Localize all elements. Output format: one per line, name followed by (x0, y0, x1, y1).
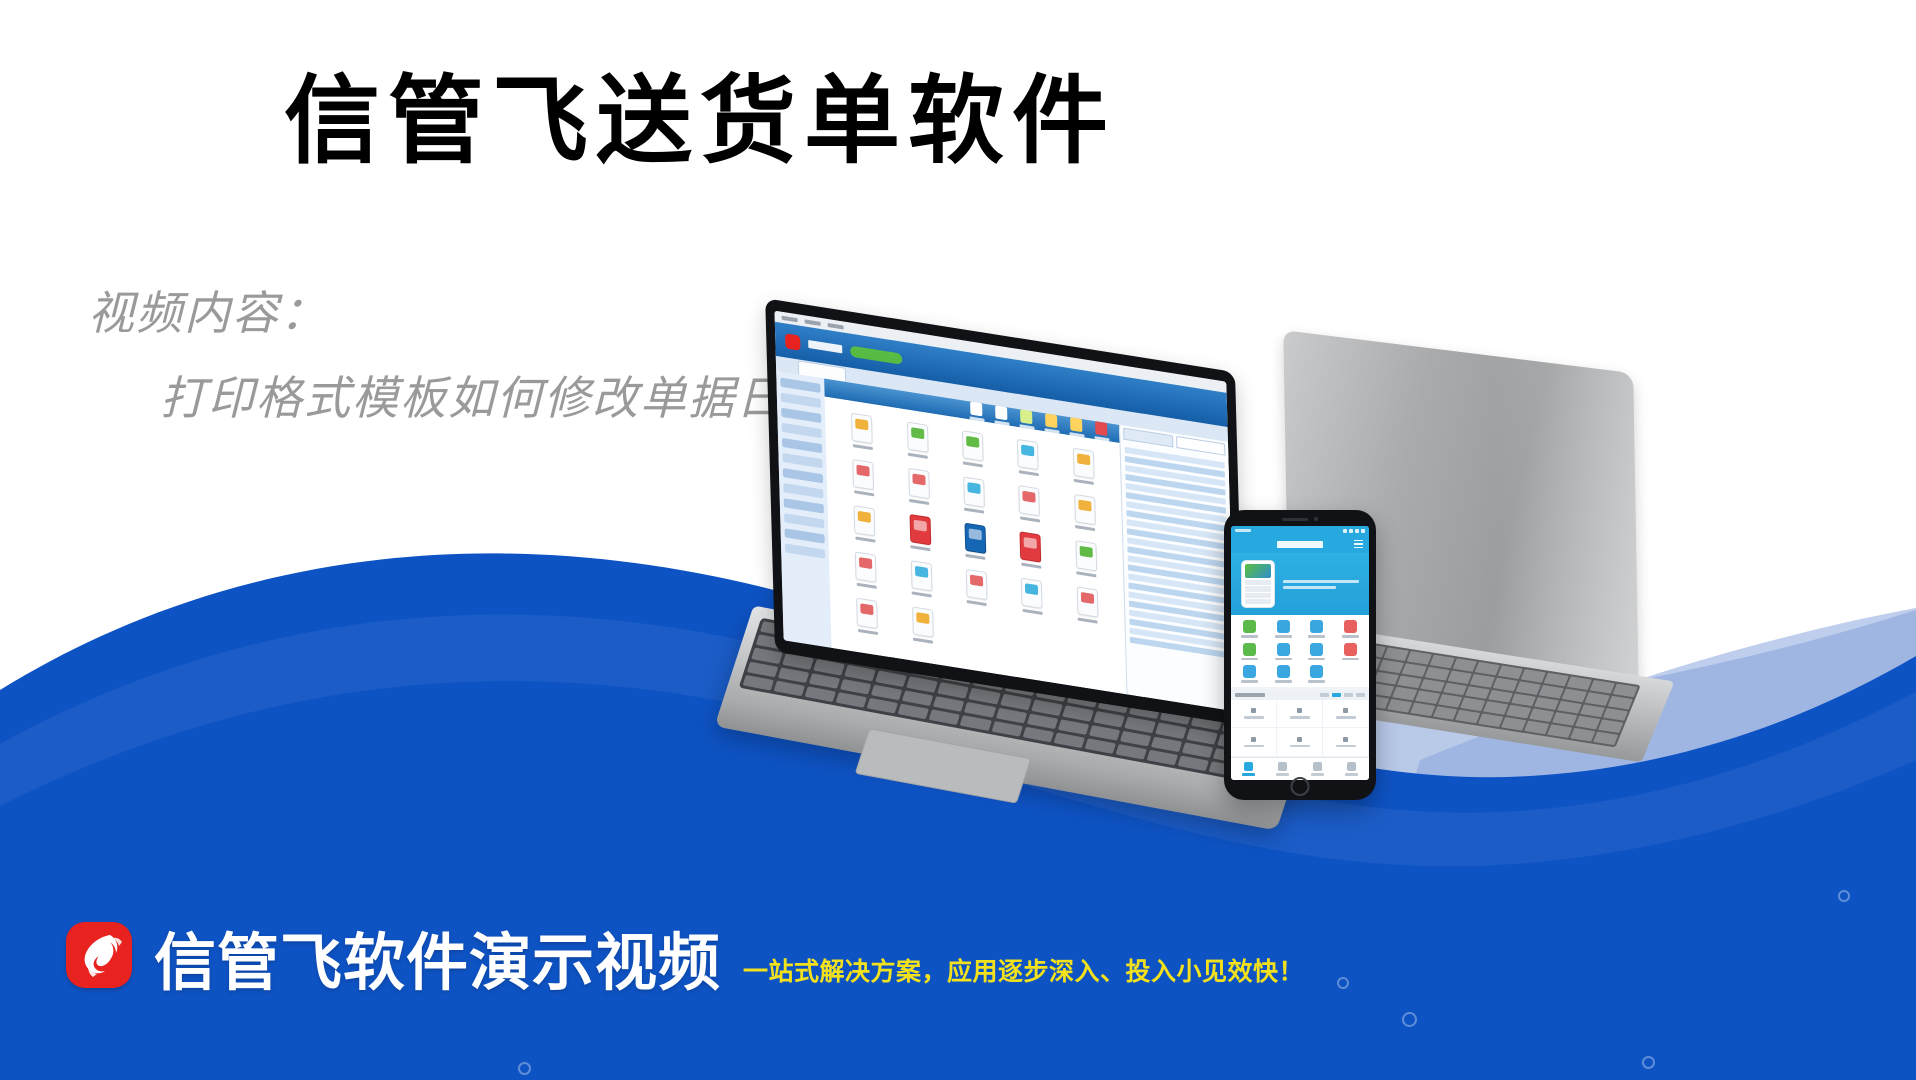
decor-dot (1337, 977, 1349, 989)
menu-item[interactable] (805, 319, 821, 326)
stat-cell[interactable] (1277, 728, 1323, 757)
phone-app-header (1231, 535, 1369, 553)
nav-profile[interactable] (1335, 758, 1370, 780)
app-logo-icon (785, 333, 800, 350)
decor-dot (518, 1062, 531, 1075)
phone-earpiece (1282, 517, 1318, 521)
nav-reports[interactable] (1300, 758, 1335, 780)
brand-bar: 信管飞软件演示视频 一站式解决方案，应用逐步深入、投入小见效快！ (66, 922, 1304, 994)
module-icon[interactable] (946, 428, 1001, 481)
module-icon[interactable] (1059, 538, 1114, 591)
stats-range-tabs[interactable] (1320, 693, 1365, 697)
software-screen (774, 311, 1235, 712)
app-tile[interactable] (1234, 643, 1266, 661)
sidebar-item[interactable] (783, 483, 823, 498)
right-panel-list[interactable] (1121, 443, 1236, 711)
module-icon[interactable] (836, 456, 891, 509)
phone-hero-banner (1231, 553, 1369, 615)
sidebar-item[interactable] (781, 393, 821, 408)
app-tile[interactable] (1301, 643, 1333, 661)
banner-text (1283, 580, 1359, 589)
sidebar-item[interactable] (785, 543, 825, 558)
app-right-panel[interactable] (1119, 425, 1235, 711)
mobile-phone (1224, 510, 1376, 800)
sidebar-item[interactable] (785, 528, 825, 543)
sidebar-item[interactable] (784, 513, 824, 528)
module-icon[interactable] (1002, 483, 1057, 536)
app-badge (850, 345, 902, 364)
hamburger-menu-icon[interactable] (1354, 540, 1363, 549)
app-tile[interactable] (1234, 620, 1266, 638)
xinguanfei-bird-logo-icon (66, 922, 132, 988)
sidebar-item[interactable] (782, 453, 822, 468)
stats-title (1235, 693, 1265, 697)
menu-item[interactable] (782, 315, 798, 322)
speaker-icon (1282, 518, 1308, 521)
module-icon[interactable] (890, 419, 945, 472)
stat-cell[interactable] (1231, 700, 1277, 729)
module-icon-grid[interactable] (825, 397, 1127, 697)
app-tile[interactable] (1301, 620, 1333, 638)
module-icon[interactable] (893, 511, 948, 564)
app-tile[interactable] (1301, 665, 1333, 683)
module-icon[interactable] (947, 474, 1002, 527)
video-content-label: 视频内容： (88, 286, 328, 340)
front-camera-icon (1314, 517, 1318, 521)
phone-statusbar (1231, 526, 1369, 535)
phone-stats-grid[interactable] (1231, 700, 1369, 758)
module-icon[interactable] (1004, 529, 1059, 582)
phone-home-button[interactable] (1291, 777, 1310, 796)
app-tile[interactable] (1335, 643, 1367, 661)
module-icon[interactable] (1058, 491, 1113, 544)
app-tile-empty (1335, 665, 1367, 683)
brand-tagline: 一站式解决方案，应用逐步深入、投入小见效快！ (743, 959, 1304, 984)
module-icon[interactable] (892, 465, 947, 518)
module-icon[interactable] (1056, 445, 1111, 498)
sidebar-item[interactable] (780, 378, 820, 393)
app-sidebar[interactable] (776, 371, 831, 648)
module-icon[interactable] (895, 604, 950, 657)
app-tile[interactable] (1268, 620, 1300, 638)
decor-dot (1642, 1056, 1655, 1069)
phone-app-title (1277, 541, 1323, 548)
app-tile[interactable] (1268, 665, 1300, 683)
stat-cell[interactable] (1277, 700, 1323, 729)
app-tile[interactable] (1335, 620, 1367, 638)
status-time (1235, 529, 1251, 532)
app-name-text (808, 340, 842, 353)
decor-dot (1402, 1012, 1417, 1027)
module-icon[interactable] (835, 410, 890, 463)
brand-name: 信管飞软件演示视频 (154, 932, 721, 994)
sidebar-item[interactable] (783, 468, 823, 483)
module-icon[interactable] (894, 558, 949, 611)
page-title: 信管飞送货单软件 (0, 66, 1400, 176)
module-icon[interactable] (1060, 584, 1115, 637)
device-preview-icon (1241, 560, 1275, 608)
module-icon[interactable] (1005, 575, 1060, 628)
sidebar-item[interactable] (782, 423, 822, 438)
device-cluster (880, 380, 1916, 940)
module-icon[interactable] (839, 549, 894, 602)
phone-app-grid[interactable] (1231, 615, 1369, 687)
sidebar-item[interactable] (781, 408, 821, 423)
sidebar-item[interactable] (782, 438, 822, 453)
slide-canvas: 信管飞送货单软件 视频内容： 打印格式模板如何修改单据日期格式？ (0, 0, 1916, 1080)
stat-cell[interactable] (1323, 728, 1369, 757)
module-icon[interactable] (840, 595, 895, 648)
stat-cell[interactable] (1231, 728, 1277, 757)
sidebar-item[interactable] (784, 498, 824, 513)
module-icon[interactable] (948, 520, 1003, 573)
menu-item[interactable] (828, 323, 844, 330)
nav-documents[interactable] (1266, 758, 1301, 780)
stat-cell[interactable] (1323, 700, 1369, 729)
phone-stats-header (1231, 690, 1369, 700)
app-tile[interactable] (1234, 665, 1266, 683)
nav-home[interactable] (1231, 758, 1266, 780)
status-indicators (1343, 529, 1365, 533)
app-tile[interactable] (1268, 643, 1300, 661)
module-icon[interactable] (838, 503, 893, 556)
module-icon[interactable] (1001, 436, 1056, 489)
phone-screen (1231, 526, 1369, 780)
module-icon[interactable] (950, 566, 1005, 619)
front-laptop-lid (765, 298, 1245, 726)
